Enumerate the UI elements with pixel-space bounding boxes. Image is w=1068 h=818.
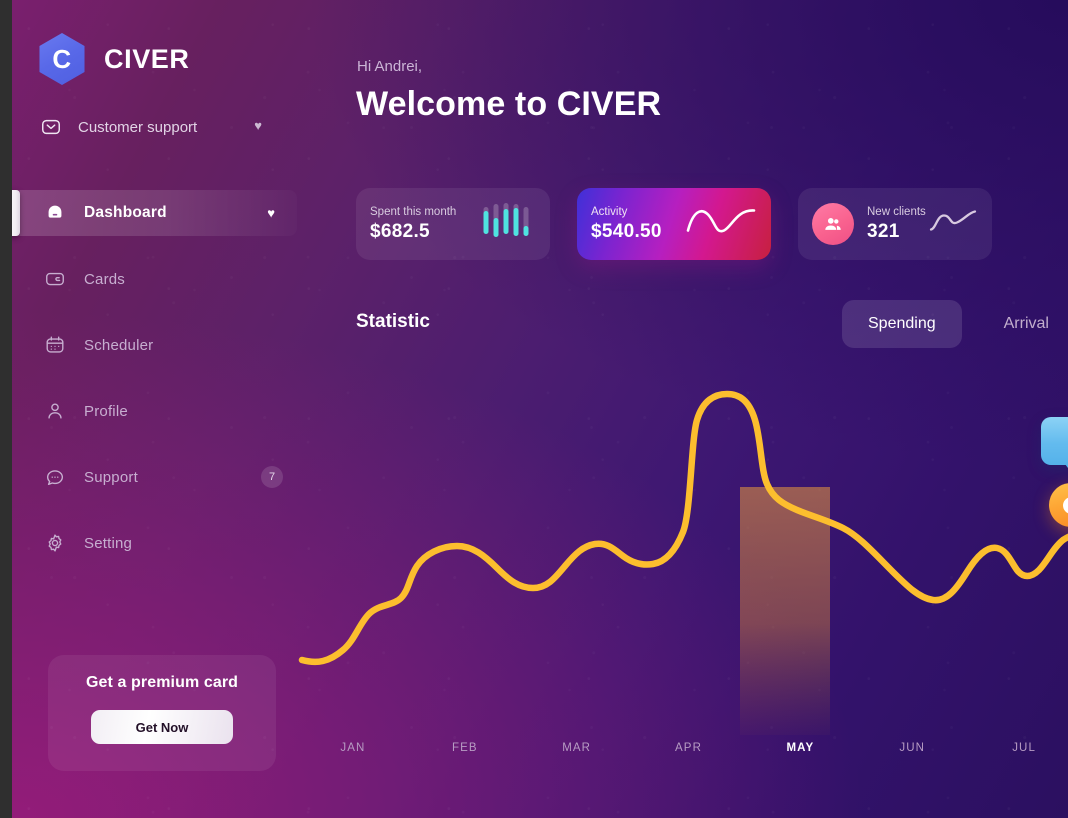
left-edge-active-indicator[interactable] bbox=[12, 190, 20, 236]
sidebar-menu: Dashboard ♥ Cards bbox=[12, 190, 297, 586]
heart-icon: ♥ bbox=[267, 207, 275, 220]
customer-support-row[interactable]: Customer support ♥ bbox=[40, 111, 272, 143]
heart-icon: ♥ bbox=[254, 119, 262, 132]
card-icon bbox=[44, 268, 66, 290]
sidebar-item-setting[interactable]: Setting bbox=[12, 520, 297, 566]
brand-name: CIVER bbox=[104, 44, 190, 75]
premium-card-promo: Get a premium card Get Now bbox=[48, 655, 276, 771]
sidebar-item-label: Profile bbox=[84, 403, 128, 420]
x-axis-label: JUN bbox=[856, 742, 968, 754]
get-now-button[interactable]: Get Now bbox=[91, 710, 233, 744]
brand-logo[interactable]: C CIVER bbox=[36, 33, 190, 85]
chart-x-axis-labels: JAN FEB MAR APR MAY JUN JUL bbox=[297, 742, 1068, 754]
sidebar-item-support[interactable]: Support 7 bbox=[12, 454, 297, 500]
x-axis-label: FEB bbox=[409, 742, 521, 754]
x-axis-label-active: MAY bbox=[744, 742, 856, 754]
sidebar-item-label: Cards bbox=[84, 271, 125, 288]
hexagon-logo-icon: C bbox=[36, 33, 88, 85]
spending-line-chart[interactable]: $ 856.60 JAN FEB MAR APR MAY JUN JUL bbox=[297, 0, 1068, 818]
sidebar: C CIVER Customer support ♥ bbox=[12, 0, 297, 818]
x-axis-label: MAR bbox=[521, 742, 633, 754]
sidebar-item-label: Dashboard bbox=[84, 204, 167, 222]
chart-svg bbox=[297, 0, 1068, 818]
support-badge: 7 bbox=[261, 466, 283, 488]
app-window: C CIVER Customer support ♥ bbox=[12, 0, 1068, 818]
sidebar-item-label: Scheduler bbox=[84, 337, 153, 354]
chart-highlight-band bbox=[740, 487, 830, 735]
x-axis-label: JUL bbox=[968, 742, 1068, 754]
chart-line bbox=[302, 394, 1068, 662]
chart-tooltip: $ 856.60 bbox=[1041, 417, 1068, 465]
premium-title: Get a premium card bbox=[86, 674, 238, 692]
customer-support-label: Customer support bbox=[78, 119, 197, 136]
main-content: Hi Andrei, Welcome to CIVER Spent this m… bbox=[297, 0, 1068, 818]
sidebar-item-cards[interactable]: Cards bbox=[12, 256, 297, 302]
sidebar-item-scheduler[interactable]: Scheduler bbox=[12, 322, 297, 368]
sidebar-item-dashboard[interactable]: Dashboard ♥ bbox=[12, 190, 297, 236]
logo-letter: C bbox=[52, 46, 71, 72]
envelope-icon bbox=[40, 116, 62, 138]
user-icon bbox=[44, 400, 66, 422]
gear-icon bbox=[44, 532, 66, 554]
x-axis-label: JAN bbox=[297, 742, 409, 754]
home-icon bbox=[44, 202, 66, 224]
sidebar-item-label: Setting bbox=[84, 535, 132, 552]
calendar-icon bbox=[44, 334, 66, 356]
chat-icon bbox=[44, 466, 66, 488]
sidebar-item-label: Support bbox=[84, 469, 138, 486]
x-axis-label: APR bbox=[633, 742, 745, 754]
sidebar-item-profile[interactable]: Profile bbox=[12, 388, 297, 434]
